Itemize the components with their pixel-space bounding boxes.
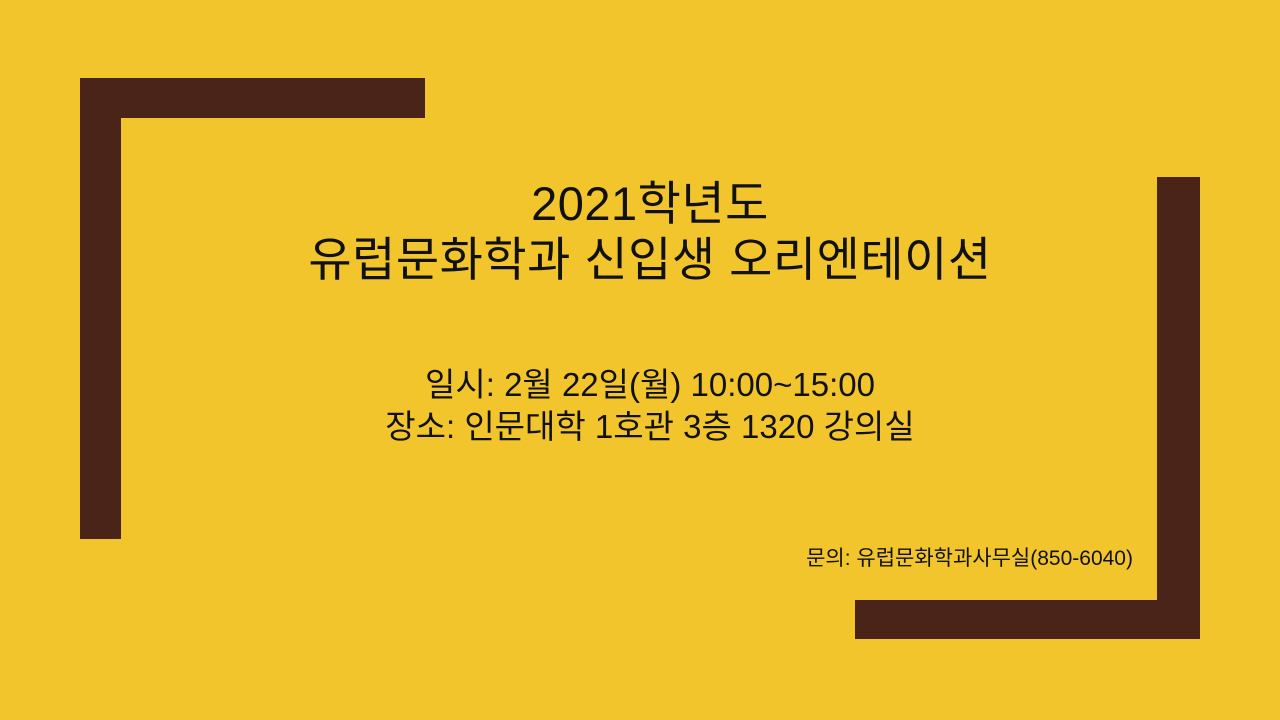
event-datetime: 일시: 2월 22일(월) 10:00~15:00: [20, 364, 1280, 406]
top-left-bracket-horizontal-bar: [80, 78, 425, 118]
event-details: 일시: 2월 22일(월) 10:00~15:00 장소: 인문대학 1호관 3…: [0, 364, 1280, 448]
contact-info: 문의: 유럽문화학과사무실(850-6040): [0, 545, 1133, 573]
bottom-right-bracket-horizontal-bar: [855, 600, 1200, 639]
poster-title: 2021학년도 유럽문화학과 신입생 오리엔테이션: [0, 176, 1280, 288]
title-line-event-name: 유럽문화학과 신입생 오리엔테이션: [20, 232, 1280, 288]
top-left-bracket-vertical-bar: [80, 78, 121, 539]
title-line-academic-year: 2021학년도: [20, 176, 1280, 232]
event-location: 장소: 인문대학 1호관 3층 1320 강의실: [20, 406, 1280, 448]
orientation-poster: 2021학년도 유럽문화학과 신입생 오리엔테이션 일시: 2월 22일(월) …: [0, 0, 1280, 720]
contact-office-phone: 문의: 유럽문화학과사무실(850-6040): [0, 545, 1133, 573]
